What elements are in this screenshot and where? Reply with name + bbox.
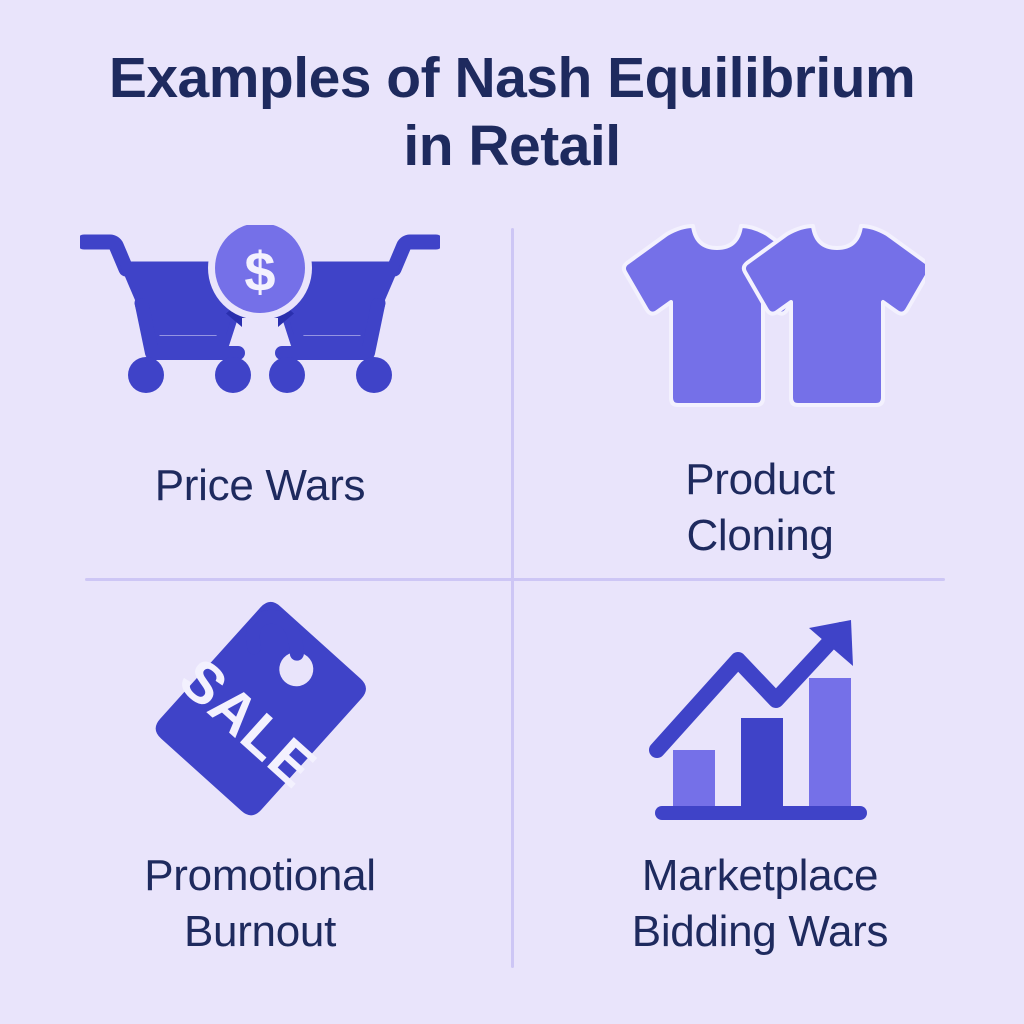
title-line-1: Examples of Nash Equilibrium — [0, 44, 1024, 112]
infographic-poster: Examples of Nash Equilibrium in Retail — [0, 0, 1024, 1024]
two-shopping-carts-with-dollar-coin-icon: $ — [80, 225, 440, 440]
two-identical-tshirts-icon — [595, 218, 925, 428]
quadrant-promotional-burnout: SALE Promotional Burnout — [30, 600, 490, 960]
quadrant-price-wars: $ Price Wars — [30, 225, 490, 514]
baseline — [655, 806, 867, 820]
promotional-burnout-icon-area: SALE — [135, 600, 385, 840]
quadrant-label-marketplace-bidding-wars: Marketplace Bidding Wars — [632, 848, 888, 960]
price-tag: SALE — [142, 600, 379, 828]
bar-3 — [809, 678, 851, 812]
title-line-2: in Retail — [0, 112, 1024, 180]
quadrant-label-promotional-burnout: Promotional Burnout — [144, 848, 375, 960]
bar-1 — [673, 750, 715, 812]
quadrant-label-price-wars: Price Wars — [155, 458, 366, 514]
coin-dollar-symbol: $ — [244, 240, 275, 303]
marketplace-bidding-icon-area — [645, 600, 875, 840]
price-wars-icon-area: $ — [80, 225, 440, 440]
quadrant-marketplace-bidding-wars: Marketplace Bidding Wars — [530, 600, 990, 960]
rising-bar-chart-with-arrow-icon — [645, 608, 875, 833]
tshirt-right — [744, 226, 925, 405]
bar-2 — [741, 718, 783, 812]
quadrant-product-cloning: Product Cloning — [530, 215, 990, 564]
sale-price-tag-icon: SALE — [135, 600, 385, 840]
divider-vertical — [511, 228, 514, 968]
divider-horizontal — [85, 578, 945, 581]
product-cloning-icon-area — [595, 215, 925, 430]
quadrant-label-product-cloning: Product Cloning — [685, 452, 835, 564]
page-title: Examples of Nash Equilibrium in Retail — [0, 44, 1024, 180]
